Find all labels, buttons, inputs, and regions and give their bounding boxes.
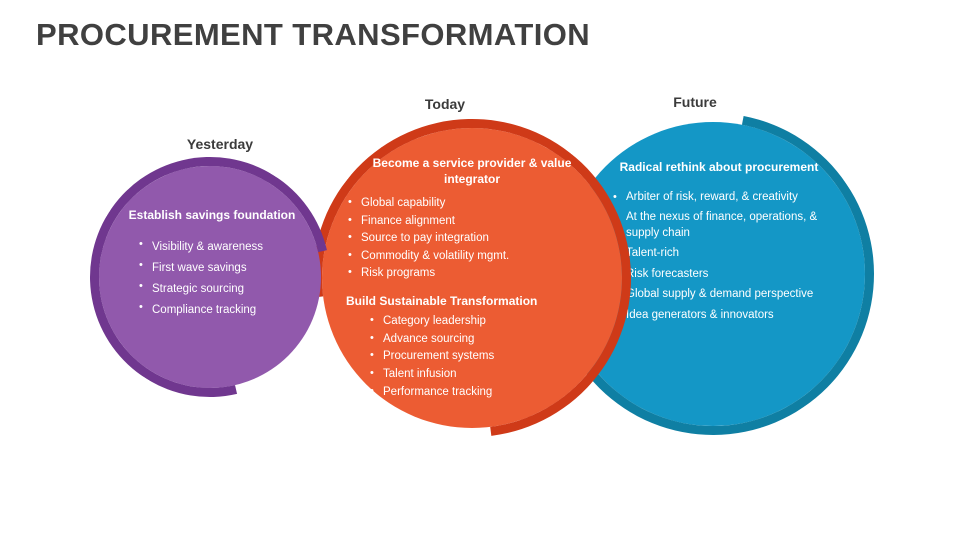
stage-heading-yesterday: Establish savings foundation — [127, 208, 297, 224]
list-item: Category leadership — [368, 313, 598, 331]
stage-circle-yesterday[interactable]: Establish savings foundation Visibility … — [99, 166, 321, 388]
stage-circle-today[interactable]: Become a service provider & value integr… — [322, 128, 622, 428]
stage-label-future: Future — [620, 94, 770, 110]
list-item: At the nexus of finance, operations, & s… — [611, 210, 833, 241]
list-item: Advance sourcing — [368, 331, 598, 349]
stage-label-today: Today — [370, 96, 520, 112]
list-item: First wave savings — [137, 258, 297, 279]
list-item: Talent infusion — [368, 366, 598, 384]
stage-bullets-today-secondary: Category leadership Advance sourcing Pro… — [346, 313, 598, 401]
list-item: Risk forecasters — [611, 267, 833, 283]
stage-heading-today: Become a service provider & value integr… — [346, 156, 598, 187]
stage-content-today: Become a service provider & value integr… — [346, 156, 598, 401]
list-item: Arbiter of risk, reward, & creativity — [611, 190, 833, 206]
list-item: Source to pay integration — [346, 230, 598, 247]
list-item: Talent-rich — [611, 246, 833, 262]
list-item: Finance alignment — [346, 213, 598, 230]
list-item: Commodity & volatility mgmt. — [346, 248, 598, 265]
list-item: Performance tracking — [368, 384, 598, 402]
stage-bullets-today-primary: Global capability Finance alignment Sour… — [346, 195, 598, 282]
list-item: Visibility & awareness — [137, 237, 297, 258]
stage-content-yesterday: Establish savings foundation Visibility … — [127, 208, 297, 322]
slide-canvas: PROCUREMENT TRANSFORMATION Yesterday Tod… — [0, 0, 960, 540]
list-item: Compliance tracking — [137, 300, 297, 321]
list-item: Idea generators & innovators — [611, 308, 833, 324]
list-item: Global supply & demand perspective — [611, 287, 833, 303]
stage-bullets-future: Arbiter of risk, reward, & creativity At… — [605, 190, 833, 324]
list-item: Risk programs — [346, 265, 598, 282]
stage-subheading-today: Build Sustainable Transformation — [346, 294, 598, 310]
page-title: PROCUREMENT TRANSFORMATION — [36, 18, 590, 52]
list-item: Procurement systems — [368, 348, 598, 366]
stage-label-yesterday: Yesterday — [140, 136, 300, 152]
stage-content-future: Radical rethink about procurement Arbite… — [605, 160, 833, 328]
list-item: Global capability — [346, 195, 598, 212]
list-item: Strategic sourcing — [137, 279, 297, 300]
stage-bullets-yesterday: Visibility & awareness First wave saving… — [127, 237, 297, 322]
stage-heading-future: Radical rethink about procurement — [605, 160, 833, 176]
